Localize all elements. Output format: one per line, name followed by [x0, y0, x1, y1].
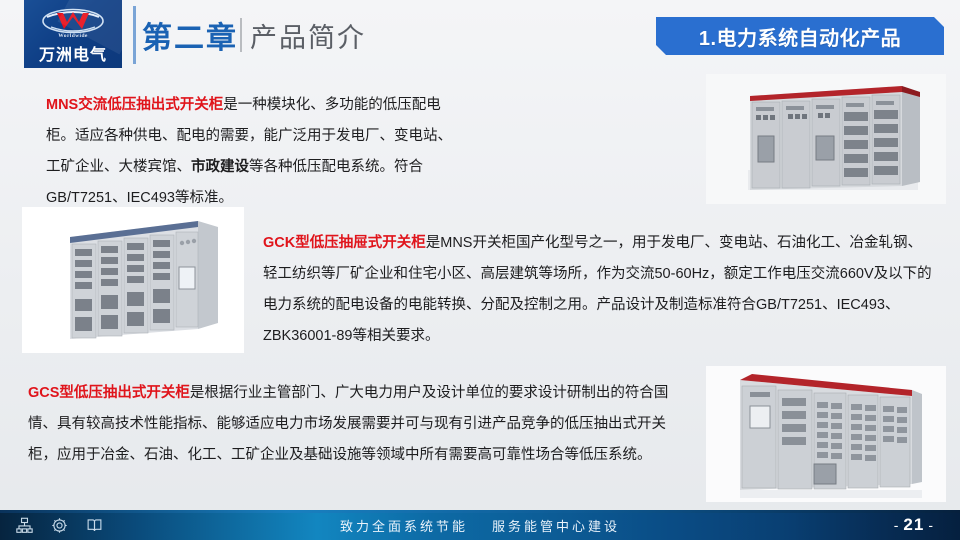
header-divider [133, 6, 136, 64]
chapter-separator [240, 18, 242, 52]
company-logo: Worldwide 万洲电气 [24, 0, 122, 68]
page-prefix: - [894, 517, 900, 533]
slide-root: Worldwide 万洲电气 第二章 产品简介 1.电力系统自动化产品 MNS交… [0, 0, 960, 540]
gck-switchgear-photo [22, 207, 244, 353]
paragraph-mns: MNS交流低压抽出式开关柜是一种模块化、多功能的低压配电柜。适应各种供电、配电的… [46, 90, 466, 214]
worldwide-w-logo-icon [24, 7, 122, 35]
section-title-text: 1.电力系统自动化产品 [699, 22, 901, 51]
page-suffix: - [928, 517, 934, 533]
page-number-value: 21 [903, 515, 924, 535]
text-run-normal: 是MNS开关柜国产化型号之一，用于发电厂、变电站、石油化工、冶金轧钢、轻工纺织等… [263, 235, 932, 344]
gcs-switchgear-photo [706, 366, 946, 502]
text-run-bold: 市政建设 [191, 159, 249, 175]
page-number: - 21 - [894, 510, 934, 540]
logo-company-name: 万洲电气 [24, 41, 122, 65]
paragraph-gck: GCK型低压抽屉式开关柜是MNS开关柜国产化型号之一，用于发电厂、变电站、石油化… [263, 228, 935, 352]
paragraph-gcs: GCS型低压抽出式开关柜是根据行业主管部门、广大电力用户及设计单位的要求设计研制… [28, 378, 683, 471]
footer-slogan-right: 服务能管中心建设 [492, 516, 620, 535]
slide-footer: 致力全面系统节能 服务能管中心建设 - 21 - [0, 510, 960, 540]
chapter-subtitle: 产品简介 [250, 16, 366, 55]
text-run-highlight: MNS交流低压抽出式开关柜 [46, 97, 223, 113]
mns-switchgear-photo [706, 74, 946, 204]
chapter-title: 第二章 [142, 13, 238, 57]
text-run-highlight: GCK型低压抽屉式开关柜 [263, 235, 426, 251]
text-run-highlight: GCS型低压抽出式开关柜 [28, 385, 190, 401]
section-title-banner: 1.电力系统自动化产品 [656, 17, 944, 55]
footer-slogan-left: 致力全面系统节能 [340, 516, 468, 535]
logo-latin-name: Worldwide [24, 33, 122, 39]
footer-slogan: 致力全面系统节能 服务能管中心建设 [0, 510, 960, 540]
